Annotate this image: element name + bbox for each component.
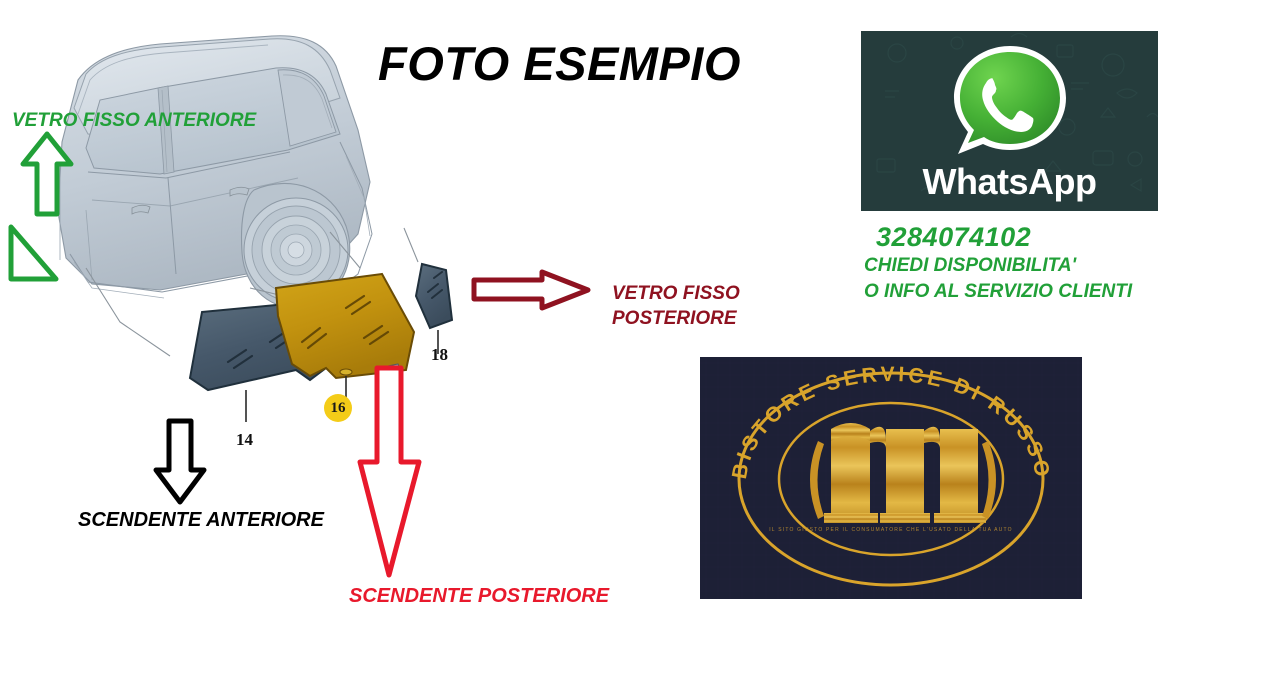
brand-logo-banner: MRICAMBISTORE SERVICE DI RUSSO MARCO (700, 357, 1082, 599)
label-vfp-line2: POSTERIORE (612, 306, 802, 331)
part-number-14: 14 (236, 430, 253, 450)
label-vetro-fisso-posteriore: VETRO FISSO POSTERIORE (612, 281, 802, 331)
whatsapp-banner: WhatsApp (861, 31, 1158, 211)
brand-emblem: MRICAMBISTORE SERVICE DI RUSSO MARCO (700, 357, 1082, 599)
label-scendente-posteriore: SCENDENTE POSTERIORE (349, 585, 609, 608)
label-vfp-line1: VETRO FISSO (612, 281, 802, 306)
part-number-18: 18 (431, 345, 448, 365)
part-number-16-badge: 16 (324, 394, 352, 422)
black-down-arrow-icon (152, 418, 208, 511)
contact-line-2: O INFO AL SERVIZIO CLIENTI (864, 279, 1194, 305)
green-up-arrow-icon (18, 130, 76, 223)
maroon-right-arrow-icon (470, 268, 592, 317)
red-down-arrow-icon (355, 365, 425, 585)
whatsapp-wordmark: WhatsApp (861, 161, 1158, 203)
brand-tagline: IL SITO GIUSTO PER IL CONSUMATORE CHE L'… (700, 527, 1082, 533)
contact-block: 3284074102 CHIEDI DISPONIBILITA' O INFO … (864, 222, 1194, 305)
phone-number[interactable]: 3284074102 (876, 222, 1194, 253)
poster-canvas: FOTO ESEMPIO (0, 0, 1264, 678)
label-scendente-anteriore: SCENDENTE ANTERIORE (78, 509, 324, 532)
label-vetro-fisso-anteriore: VETRO FISSO ANTERIORE (12, 110, 256, 132)
whatsapp-logo-icon (948, 40, 1072, 169)
contact-line-1: CHIEDI DISPONIBILITA' (864, 253, 1194, 279)
green-triangle-icon (4, 222, 62, 291)
